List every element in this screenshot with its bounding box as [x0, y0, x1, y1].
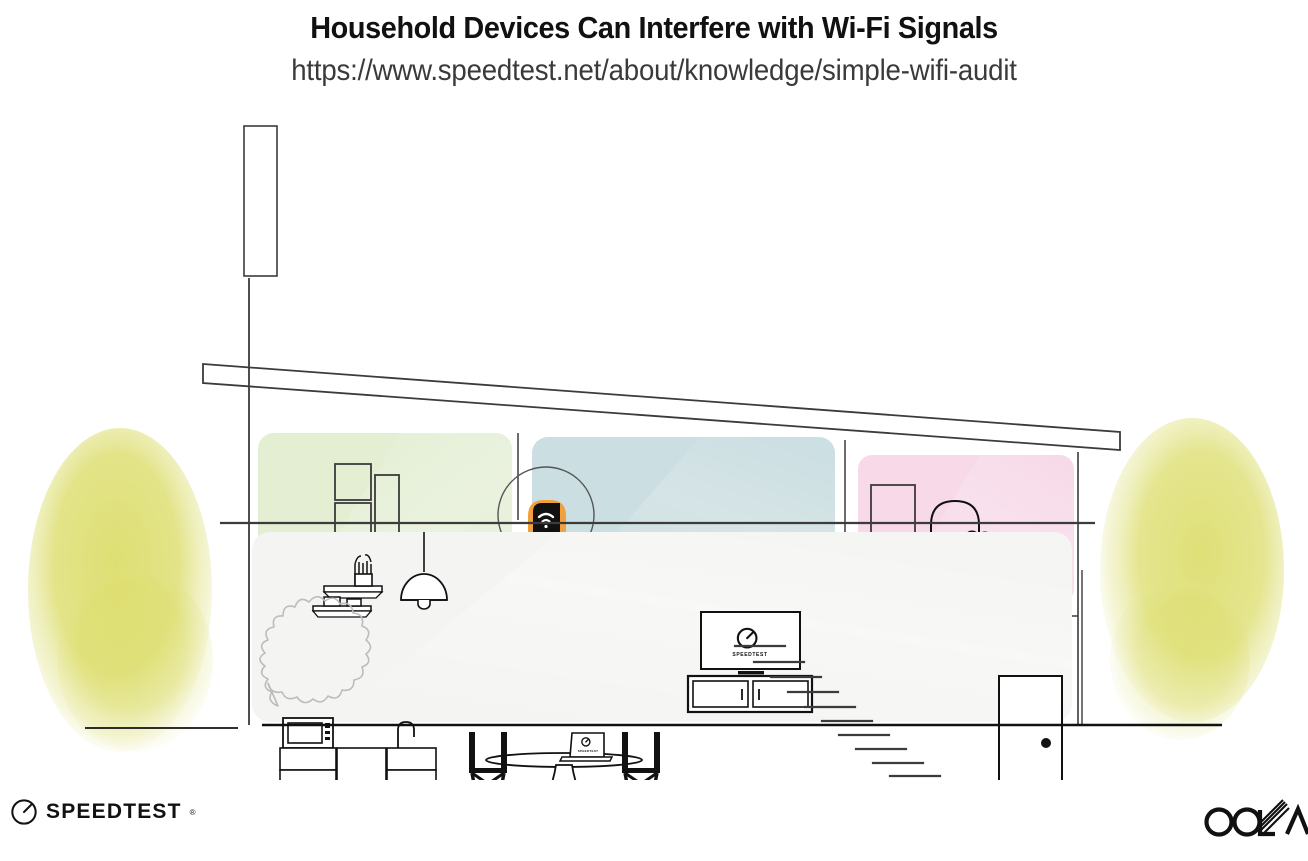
- page-title: Household Devices Can Interfere with Wi-…: [46, 0, 1262, 46]
- speedtest-trademark: ®: [190, 808, 196, 817]
- wall-shelf-lower: [313, 606, 371, 617]
- kitchen-counters: [280, 748, 436, 780]
- door-knob-icon[interactable]: [1041, 738, 1051, 748]
- foliage-left: [28, 428, 213, 752]
- speedtest-wordmark: SPEEDTEST: [46, 800, 182, 824]
- wifi-router[interactable]: [528, 500, 566, 537]
- screen-brand-label: SPEEDTEST: [732, 652, 767, 658]
- foliage-right: [1100, 418, 1284, 740]
- house-illustration: SPEEDTEST: [0, 100, 1308, 780]
- media-cabinet: [688, 676, 812, 712]
- screen-brand-label: SPEEDTEST: [578, 749, 599, 753]
- chair-right: [622, 732, 660, 780]
- infographic-canvas: Household Devices Can Interfere with Wi-…: [0, 0, 1308, 861]
- ookla-logo: [1203, 795, 1308, 843]
- wall-shelf-upper: [324, 586, 382, 598]
- laptop-speedtest: SPEEDTEST: [560, 733, 612, 761]
- source-url: https://www.speedtest.net/about/knowledg…: [52, 46, 1255, 88]
- header: Household Devices Can Interfere with Wi-…: [0, 0, 1308, 88]
- chimney: [244, 126, 277, 276]
- speedometer-icon: [10, 798, 38, 826]
- ookla-wordmark: [1203, 795, 1308, 843]
- chair-left: [469, 732, 507, 780]
- tv-speedtest: SPEEDTEST: [701, 612, 800, 674]
- exterior-wall-right: [1078, 452, 1082, 725]
- room-ground-floor: SPEEDTEST: [252, 532, 1072, 780]
- speedtest-logo: SPEEDTEST ®: [10, 798, 196, 826]
- front-door[interactable]: [999, 676, 1062, 780]
